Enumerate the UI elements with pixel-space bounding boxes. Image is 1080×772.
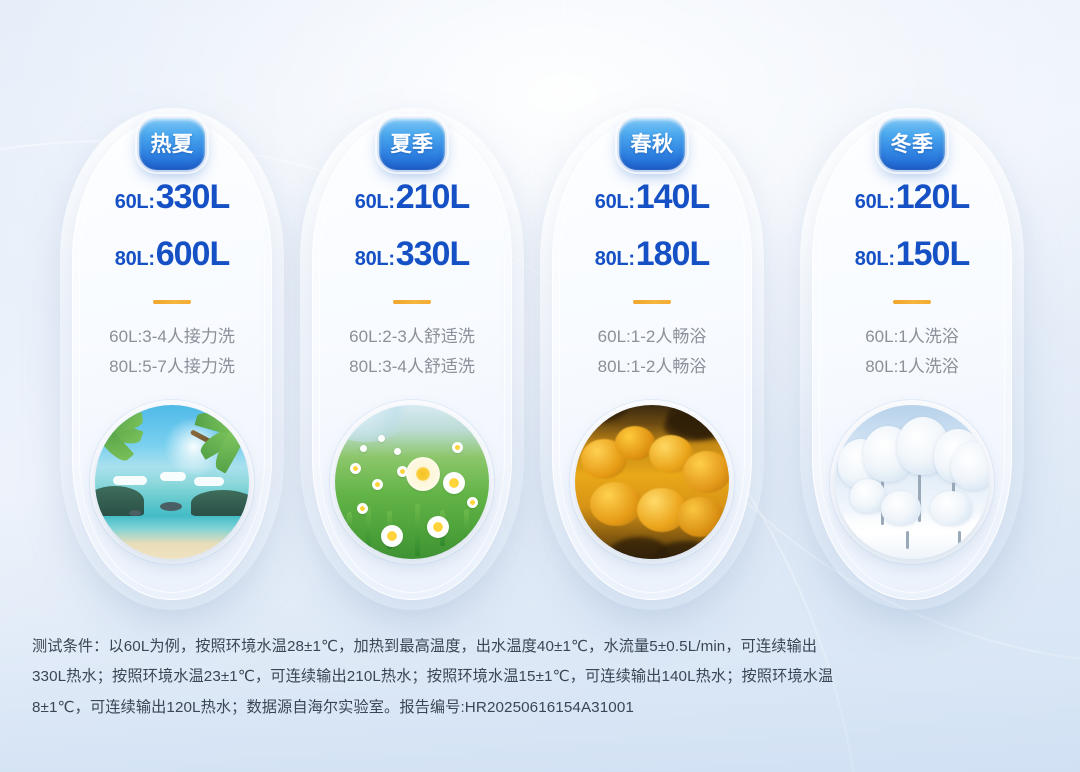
season-photo-spring-meadow <box>335 405 489 559</box>
orange-divider <box>153 300 191 304</box>
footnote-line-2: 330L热水；按照环境水温23±1℃，可连续输出210L热水；按照环境水温15±… <box>32 662 1048 692</box>
orange-divider <box>633 300 671 304</box>
season-card-hot-summer[interactable]: 60L: 330L 80L: 600L 60L:3-4人接力洗 80L:5-7人… <box>72 118 272 600</box>
season-photo-tropical-beach <box>95 405 249 559</box>
season-badge: 冬季 <box>879 118 945 170</box>
card-content: 60L: 140L 80L: 180L 60L:1-2人畅浴 80L:1-2人畅… <box>552 118 752 600</box>
card-content: 60L: 210L 80L: 330L 60L:2-3人舒适洗 80L:3-4人… <box>312 118 512 600</box>
card-content: 60L: 120L 80L: 150L 60L:1人洗浴 80L:1人洗浴 <box>812 118 1012 600</box>
footnote-line-1: 测试条件：以60L为例，按照环境水温28±1℃，加热到最高温度，出水温度40±1… <box>32 632 1048 662</box>
usage-note-60l: 60L:2-3人舒适洗 <box>349 324 475 350</box>
capacity-row-60l: 60L: 120L <box>855 178 969 217</box>
footnote-line-3: 8±1℃，可连续输出120L热水；数据源自海尔实验室。报告编号:HR202506… <box>32 693 1048 723</box>
capacity-value: 330L <box>156 178 230 217</box>
capacity-key: 60L: <box>855 191 895 214</box>
season-card-list: 60L: 330L 80L: 600L 60L:3-4人接力洗 80L:5-7人… <box>0 0 1080 620</box>
capacity-value: 140L <box>636 178 710 217</box>
footnote-block: 测试条件：以60L为例，按照环境水温28±1℃，加热到最高温度，出水温度40±1… <box>32 632 1048 723</box>
season-badge: 春秋 <box>619 118 685 170</box>
season-card-summer[interactable]: 60L: 210L 80L: 330L 60L:2-3人舒适洗 80L:3-4人… <box>312 118 512 600</box>
capacity-key: 60L: <box>595 191 635 214</box>
capacity-row-60l: 60L: 140L <box>595 178 709 217</box>
capacity-row-80l: 80L: 600L <box>115 235 229 274</box>
capacity-row-60l: 60L: 330L <box>115 178 229 217</box>
usage-note-80l: 80L:3-4人舒适洗 <box>349 354 475 380</box>
capacity-value: 150L <box>896 235 970 274</box>
season-photo-autumn-forest <box>575 405 729 559</box>
capacity-key: 80L: <box>115 248 155 271</box>
capacity-key: 80L: <box>355 248 395 271</box>
capacity-key: 80L: <box>855 248 895 271</box>
capacity-key: 80L: <box>595 248 635 271</box>
usage-note-60l: 60L:1人洗浴 <box>865 324 959 350</box>
season-photo-winter-frost <box>835 405 989 559</box>
season-badge-label: 春秋 <box>631 134 674 155</box>
infographic-stage: 60L: 330L 80L: 600L 60L:3-4人接力洗 80L:5-7人… <box>0 0 1080 772</box>
orange-divider <box>893 300 931 304</box>
usage-note-80l: 80L:1-2人畅浴 <box>598 354 707 380</box>
season-card-spring-autumn[interactable]: 60L: 140L 80L: 180L 60L:1-2人畅浴 80L:1-2人畅… <box>552 118 752 600</box>
capacity-row-80l: 80L: 150L <box>855 235 969 274</box>
capacity-key: 60L: <box>115 191 155 214</box>
season-badge-label: 冬季 <box>891 134 934 155</box>
capacity-value: 600L <box>156 235 230 274</box>
capacity-key: 60L: <box>355 191 395 214</box>
capacity-row-80l: 80L: 180L <box>595 235 709 274</box>
season-badge: 热夏 <box>139 118 205 170</box>
orange-divider <box>393 300 431 304</box>
usage-note-80l: 80L:1人洗浴 <box>865 354 959 380</box>
capacity-value: 330L <box>396 235 470 274</box>
capacity-value: 180L <box>636 235 710 274</box>
usage-note-80l: 80L:5-7人接力洗 <box>109 354 235 380</box>
usage-note-60l: 60L:1-2人畅浴 <box>598 324 707 350</box>
season-card-winter[interactable]: 60L: 120L 80L: 150L 60L:1人洗浴 80L:1人洗浴 <box>812 118 1012 600</box>
capacity-value: 210L <box>396 178 470 217</box>
season-badge-label: 夏季 <box>391 134 434 155</box>
capacity-row-80l: 80L: 330L <box>355 235 469 274</box>
card-content: 60L: 330L 80L: 600L 60L:3-4人接力洗 80L:5-7人… <box>72 118 272 600</box>
season-badge-label: 热夏 <box>151 134 194 155</box>
season-badge: 夏季 <box>379 118 445 170</box>
usage-note-60l: 60L:3-4人接力洗 <box>109 324 235 350</box>
capacity-row-60l: 60L: 210L <box>355 178 469 217</box>
capacity-value: 120L <box>896 178 970 217</box>
